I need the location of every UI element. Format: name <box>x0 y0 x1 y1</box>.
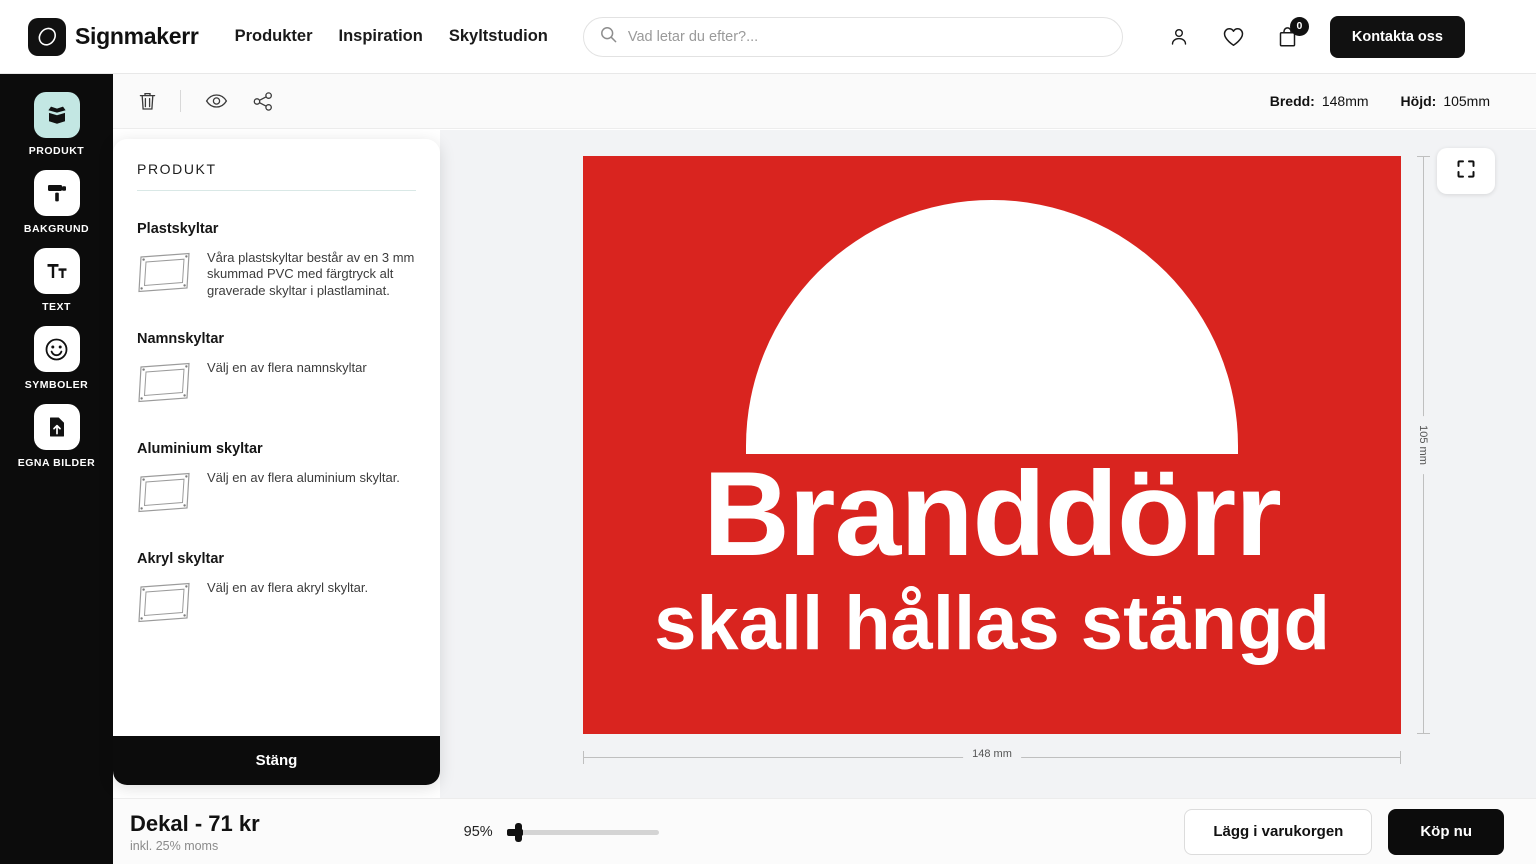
eye-icon[interactable] <box>205 91 228 111</box>
buy-now-button[interactable]: Köp nu <box>1388 809 1504 855</box>
ruler-width-label: 148 mm <box>963 748 1021 760</box>
product-body: Välj en av flera akryl skyltar. <box>137 580 416 629</box>
product-name: Akryl skyltar <box>137 551 416 567</box>
trash-icon[interactable] <box>137 90 158 112</box>
header-actions: 0 <box>1168 26 1298 48</box>
signmakerr-logo-icon <box>28 18 66 56</box>
panel-header: PRODUKT <box>113 139 440 191</box>
brand-logo[interactable]: Signmakerr <box>28 18 199 56</box>
width-dimension: Bredd:148mm <box>1270 93 1369 109</box>
zoom-slider-track <box>507 830 659 835</box>
sidebar-label-bakgrund: BAKGRUND <box>24 223 89 235</box>
product-name: Plastskyltar <box>137 221 416 237</box>
product-name: Namnskyltar <box>137 331 416 347</box>
white-dome-shape[interactable] <box>746 200 1238 454</box>
tool-rail: PRODUKT BAKGRUND TEXT <box>0 74 113 864</box>
text-tt-icon <box>34 248 80 294</box>
sign-plate-icon <box>137 580 193 629</box>
product-body: Välj en av flera namnskyltar <box>137 360 416 409</box>
search-icon <box>600 26 617 48</box>
bottom-actions: Lägg i varukorgen Köp nu <box>1184 809 1504 855</box>
shopping-bag-icon[interactable]: 0 <box>1277 26 1298 48</box>
sign-plate-icon <box>137 360 193 409</box>
sidebar-label-symboler: SYMBOLER <box>25 379 89 391</box>
cart-count-badge: 0 <box>1290 17 1309 36</box>
brand-name: Signmakerr <box>75 23 199 50</box>
sidebar-item-symboler[interactable]: SYMBOLER <box>0 326 113 391</box>
sidebar-item-produkt[interactable]: PRODUKT <box>0 92 113 157</box>
ruler-cap-left <box>583 751 584 764</box>
sidebar-item-text[interactable]: TEXT <box>0 248 113 313</box>
zoom-percent-label: 95% <box>464 824 493 840</box>
nav-item-produkter[interactable]: Produkter <box>235 27 313 46</box>
share-icon[interactable] <box>252 91 274 112</box>
search-input[interactable]: Vad letar du efter?... <box>583 17 1123 57</box>
width-label: Bredd: <box>1270 93 1315 109</box>
width-value: 148mm <box>1322 93 1369 109</box>
sign-headline[interactable]: Branddörr <box>583 454 1401 574</box>
product-description: Välj en av flera namnskyltar <box>207 360 367 376</box>
heart-icon[interactable] <box>1222 26 1245 48</box>
sign-preview[interactable]: Branddörr skall hållas stängd <box>583 156 1401 734</box>
price-block: Dekal - 71 kr inkl. 25% moms <box>130 811 260 853</box>
editor-toolbar: Bredd:148mm Höjd:105mm <box>113 74 1536 129</box>
price-label: Dekal - 71 kr <box>130 811 260 837</box>
ruler-height-label: 105 mm <box>1417 416 1429 474</box>
nav-item-inspiration[interactable]: Inspiration <box>339 27 423 46</box>
file-upload-icon <box>34 404 80 450</box>
product-description: Välj en av flera aluminium skyltar. <box>207 470 400 486</box>
panel-title: PRODUKT <box>137 161 416 177</box>
signmakerr-editor-app: Signmakerr Produkter Inspiration Skyltst… <box>0 0 1536 864</box>
height-label: Höjd: <box>1401 93 1437 109</box>
search-placeholder: Vad letar du efter?... <box>628 29 758 45</box>
fullscreen-icon <box>1456 159 1476 184</box>
ruler-cap-right <box>1400 751 1401 764</box>
ruler-cap-top <box>1417 156 1430 157</box>
sign-subline[interactable]: skall hållas stängd <box>583 586 1401 662</box>
user-icon[interactable] <box>1168 26 1190 48</box>
product-name: Aluminium skyltar <box>137 441 416 457</box>
product-description: Våra plastskyltar består av en 3 mm skum… <box>207 250 416 299</box>
nav-item-skyltstudion[interactable]: Skyltstudion <box>449 27 548 46</box>
zoom-slider[interactable] <box>507 823 659 841</box>
sidebar-label-text: TEXT <box>42 301 71 313</box>
paint-roller-icon <box>34 170 80 216</box>
contact-button[interactable]: Kontakta oss <box>1330 16 1465 58</box>
sidebar-label-produkt: PRODUKT <box>29 145 84 157</box>
height-dimension: Höjd:105mm <box>1401 93 1490 109</box>
sign-plate-icon <box>137 470 193 519</box>
list-item[interactable]: Plastskyltar Våra plastskyltar består av… <box>137 221 416 299</box>
product-list[interactable]: Plastskyltar Våra plastskyltar består av… <box>113 191 440 736</box>
ruler-cap-bottom <box>1417 733 1430 734</box>
list-item[interactable]: Akryl skyltar Välj en av flera akryl sky… <box>137 551 416 629</box>
product-body: Våra plastskyltar består av en 3 mm skum… <box>137 250 416 299</box>
sidebar-item-egna-bilder[interactable]: EGNA BILDER <box>0 404 113 469</box>
price-vat-note: inkl. 25% moms <box>130 839 260 853</box>
open-box-icon <box>34 92 80 138</box>
product-body: Välj en av flera aluminium skyltar. <box>137 470 416 519</box>
sidebar-label-egna-bilder: EGNA BILDER <box>18 457 95 469</box>
scroll-fade-overlay <box>113 644 440 736</box>
height-value: 105mm <box>1443 93 1490 109</box>
sidebar-item-bakgrund[interactable]: BAKGRUND <box>0 170 113 235</box>
canvas-dimensions: Bredd:148mm Höjd:105mm <box>1270 93 1490 109</box>
toolbar-divider <box>180 90 181 112</box>
fullscreen-button[interactable] <box>1437 148 1495 194</box>
smiley-face-icon <box>34 326 80 372</box>
add-to-cart-button[interactable]: Lägg i varukorgen <box>1184 809 1372 855</box>
site-header: Signmakerr Produkter Inspiration Skyltst… <box>0 0 1536 74</box>
vertical-ruler: 105 mm <box>1416 156 1430 734</box>
product-panel: PRODUKT Plastskyltar <box>113 139 440 785</box>
close-panel-button[interactable]: Stäng <box>113 736 440 785</box>
zoom-control: 95% <box>464 823 659 841</box>
bottom-bar: Dekal - 71 kr inkl. 25% moms 95% Lägg i … <box>113 798 1536 864</box>
main-nav: Produkter Inspiration Skyltstudion <box>235 27 548 46</box>
product-description: Välj en av flera akryl skyltar. <box>207 580 368 596</box>
zoom-slider-thumb[interactable] <box>515 823 522 842</box>
canvas-area[interactable]: Branddörr skall hållas stängd 148 mm 105… <box>440 130 1536 798</box>
horizontal-ruler: 148 mm <box>583 750 1401 764</box>
list-item[interactable]: Aluminium skyltar Välj en av flera alumi… <box>137 441 416 519</box>
sign-plate-icon <box>137 250 193 299</box>
list-item[interactable]: Namnskyltar Välj en av flera namnskyltar <box>137 331 416 409</box>
